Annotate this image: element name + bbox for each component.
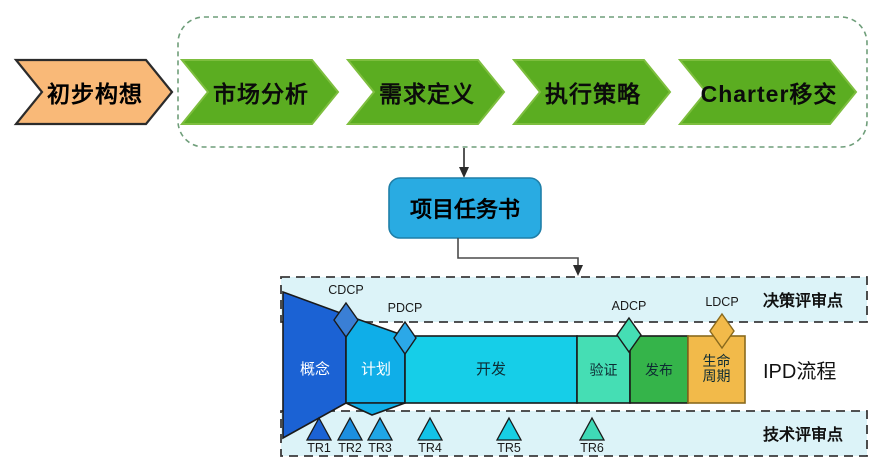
chevron-start-label: 初步构想 [30,78,160,106]
diagram-canvas: 初步构想 市场分析 需求定义 执行策略 Charter移交 项目任务书 概念 计… [0,0,881,471]
ipd-stage-lifecycle-label: 生命 周期 [688,346,745,392]
ipd-stage-verify-label: 验证 [577,356,630,384]
technical-review-tr4-label: TR4 [405,441,455,455]
ipd-stage-develop-label: 开发 [405,356,577,384]
chevron-stage-3-label: 执行策略 [528,78,658,106]
decision-point-ldcp-label: LDCP [692,295,752,309]
technical-review-row-label: 技术评审点 [763,422,843,444]
charter-box-label: 项目任务书 [389,194,541,222]
decision-point-pdcp-label: PDCP [375,301,435,315]
ipd-process-row-label: IPD流程 [763,357,836,381]
connector-group-to-charter [459,148,469,178]
decision-review-row-label: 决策评审点 [763,288,843,310]
diagram-graphics [0,0,881,471]
connector-charter-to-ipd [458,238,583,276]
ipd-stage-concept-label: 概念 [285,356,345,384]
technical-review-tr3-label: TR3 [355,441,405,455]
decision-point-cdcp-label: CDCP [316,283,376,297]
technical-review-tr5-label: TR5 [484,441,534,455]
ipd-stage-plan-label: 计划 [348,356,404,384]
chevron-stage-2-label: 需求定义 [362,78,492,106]
ipd-stage-release-label: 发布 [630,356,688,384]
chevron-stage-4-label: Charter移交 [694,78,844,106]
technical-review-tr6-label: TR6 [567,441,617,455]
decision-point-adcp-label: ADCP [599,299,659,313]
chevron-stage-1-label: 市场分析 [196,78,326,106]
